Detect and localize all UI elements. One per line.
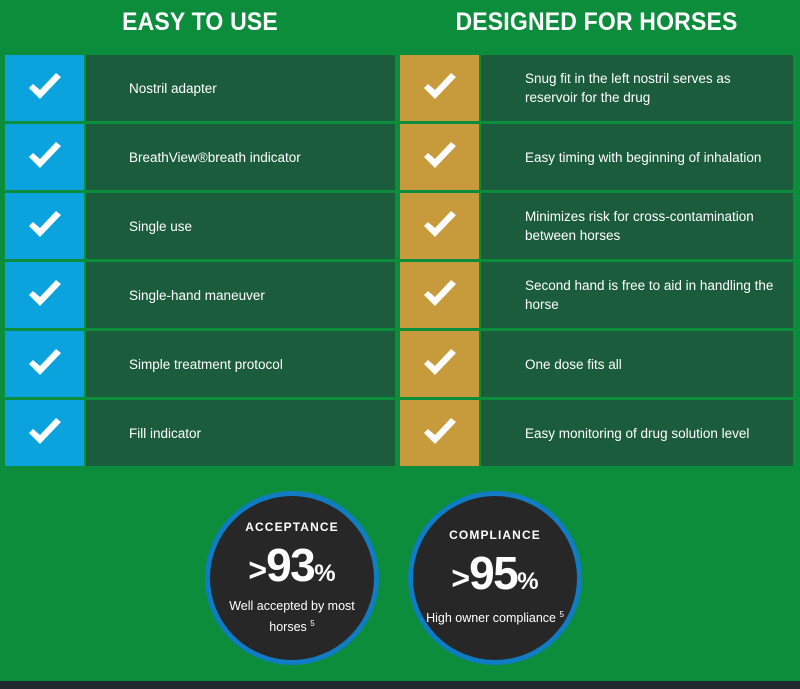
stat-description: High owner compliance 5 [425,606,565,627]
check-icon [5,331,84,397]
feature-cell-left: Single-hand maneuver [86,262,395,328]
feature-table: Nostril adapter Snug fit in the left nos… [0,55,800,473]
stat-prefix: > [248,554,266,586]
feature-cell-right: Snug fit in the left nostril serves as r… [481,55,793,121]
column-headers: EASY TO USE DESIGNED FOR HORSES [0,0,800,50]
feature-cell-right: One dose fits all [481,331,793,397]
stat-circle-acceptance: ACCEPTANCE > 93 % Well accepted by most … [205,491,379,665]
table-row: BreathView®breath indicator Easy timing … [0,124,800,190]
stat-footnote: 5 [310,619,314,628]
column-header-easy-to-use: EASY TO USE [21,8,380,37]
table-row: Fill indicator Easy monitoring of drug s… [0,400,800,466]
check-icon [5,400,84,466]
check-icon [400,400,479,466]
check-icon [400,262,479,328]
stat-value: > 93 % [248,542,335,588]
statistics-section: ACCEPTANCE > 93 % Well accepted by most … [0,489,800,669]
stat-footnote: 5 [559,610,563,619]
table-row: Simple treatment protocol One dose fits … [0,331,800,397]
feature-label: Snug fit in the left nostril serves as r… [481,69,793,107]
stat-description: Well accepted by most horses 5 [222,598,362,636]
stat-number: 95 [469,550,517,596]
feature-label: Nostril adapter [86,79,231,98]
stat-unit: % [314,562,335,586]
feature-cell-left: Simple treatment protocol [86,331,395,397]
feature-cell-left: BreathView®breath indicator [86,124,395,190]
feature-cell-right: Easy timing with beginning of inhalation [481,124,793,190]
feature-label: Second hand is free to aid in handling t… [481,276,793,314]
stat-unit: % [517,570,538,594]
feature-label: Single-hand maneuver [86,286,279,305]
check-icon [5,55,84,121]
table-row: Single use Minimizes risk for cross-cont… [0,193,800,259]
table-row: Single-hand maneuver Second hand is free… [0,262,800,328]
feature-label: Fill indicator [86,424,215,443]
feature-cell-right: Easy monitoring of drug solution level [481,400,793,466]
feature-label: Single use [86,217,206,236]
stat-number: 93 [266,542,314,588]
stat-label: COMPLIANCE [449,528,541,542]
check-icon [5,193,84,259]
feature-label: Simple treatment protocol [86,355,297,374]
feature-cell-left: Fill indicator [86,400,395,466]
feature-cell-right: Minimizes risk for cross-contamination b… [481,193,793,259]
feature-cell-left: Nostril adapter [86,55,395,121]
check-icon [5,262,84,328]
feature-label: BreathView®breath indicator [86,148,315,167]
infographic-page: EASY TO USE DESIGNED FOR HORSES Nostril … [0,0,800,689]
stat-description-text: Well accepted by most horses [229,599,355,634]
check-icon [400,193,479,259]
bottom-strip [0,681,800,689]
check-icon [400,331,479,397]
stat-prefix: > [451,562,469,594]
stat-description-text: High owner compliance [426,612,556,626]
check-icon [5,124,84,190]
table-row: Nostril adapter Snug fit in the left nos… [0,55,800,121]
stat-circle-compliance: COMPLIANCE > 95 % High owner compliance … [408,491,582,665]
check-icon [400,55,479,121]
check-icon [400,124,479,190]
stat-label: ACCEPTANCE [245,520,338,534]
feature-label: Easy timing with beginning of inhalation [481,148,775,167]
feature-cell-left: Single use [86,193,395,259]
stat-value: > 95 % [451,550,538,596]
feature-label: Minimizes risk for cross-contamination b… [481,207,793,245]
column-header-designed-for-horses: DESIGNED FOR HORSES [416,8,778,37]
feature-label: Easy monitoring of drug solution level [481,424,763,443]
feature-label: One dose fits all [481,355,636,374]
feature-cell-right: Second hand is free to aid in handling t… [481,262,793,328]
